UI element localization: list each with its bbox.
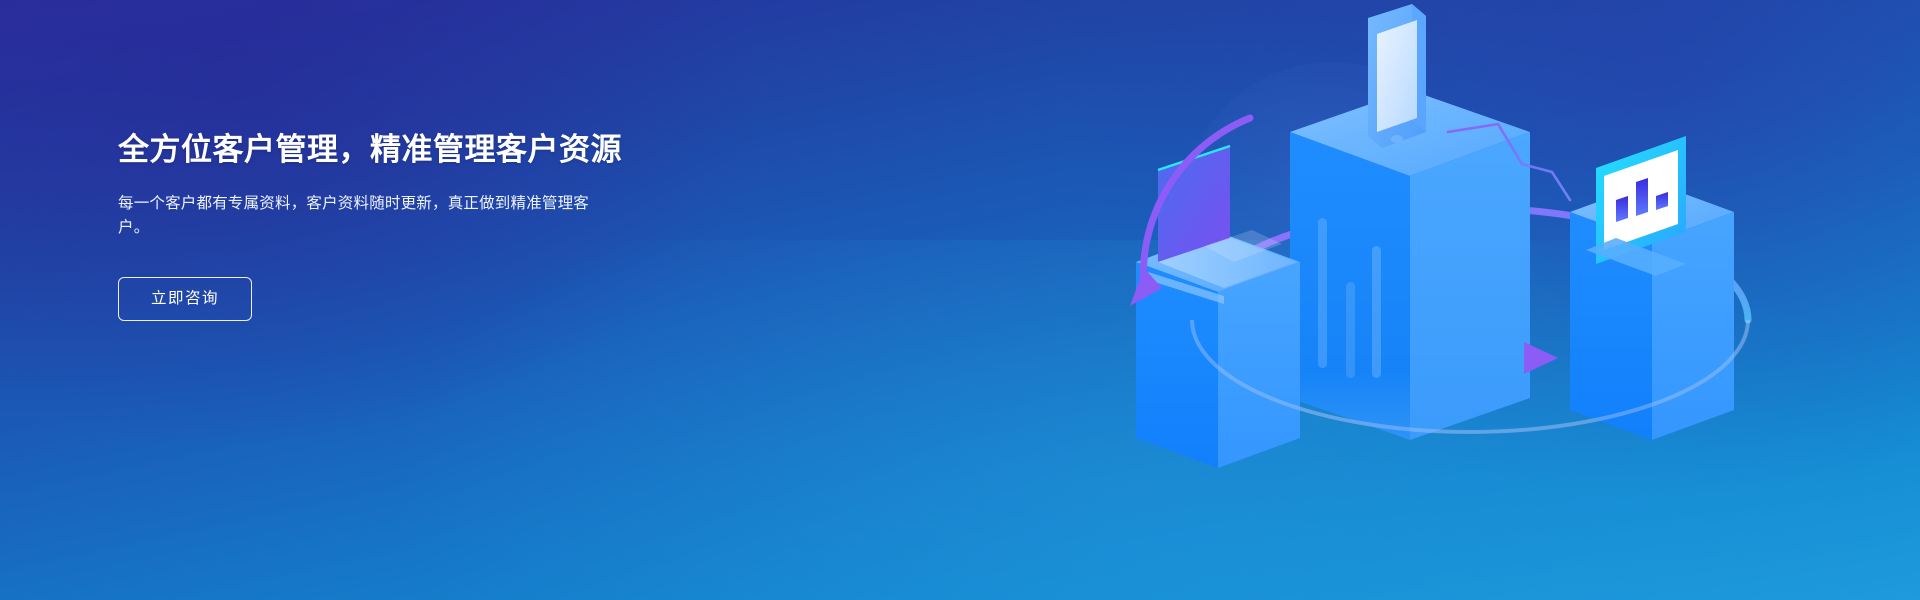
laptop-keyboard — [1204, 230, 1282, 262]
hero-illustration — [1100, 0, 1920, 600]
orbit-ring — [1192, 208, 1748, 320]
background-circle-blob — [1182, 62, 1482, 362]
hero-banner: 全方位客户管理，精准管理客户资源 每一个客户都有专属资料，客户资料随时更新，真正… — [0, 0, 1920, 600]
background-tint-right — [1060, 0, 1920, 500]
consult-now-button[interactable]: 立即咨询 — [118, 277, 252, 321]
tablet-device — [1368, 4, 1426, 148]
connector-line — [1448, 124, 1570, 200]
pillar-right — [1570, 182, 1734, 440]
page-title: 全方位客户管理，精准管理客户资源 — [118, 130, 738, 170]
arrow-left — [1130, 118, 1250, 306]
arrow-right — [1452, 342, 1558, 374]
monitor-device — [1586, 136, 1686, 276]
tablet-home-button — [1391, 135, 1403, 143]
hero-copy: 全方位客户管理，精准管理客户资源 每一个客户都有专属资料，客户资料随时更新，真正… — [118, 130, 738, 321]
pillar-center — [1290, 90, 1530, 440]
hero-subtitle: 每一个客户都有专属资料，客户资料随时更新，真正做到精准管理客户。 — [118, 192, 596, 240]
laptop-device — [1148, 146, 1296, 304]
monitor-bar-chart — [1616, 178, 1668, 222]
pillar-left — [1136, 232, 1300, 468]
orbit-ring-front — [1192, 320, 1748, 432]
orbit-ring-back — [1192, 208, 1748, 432]
